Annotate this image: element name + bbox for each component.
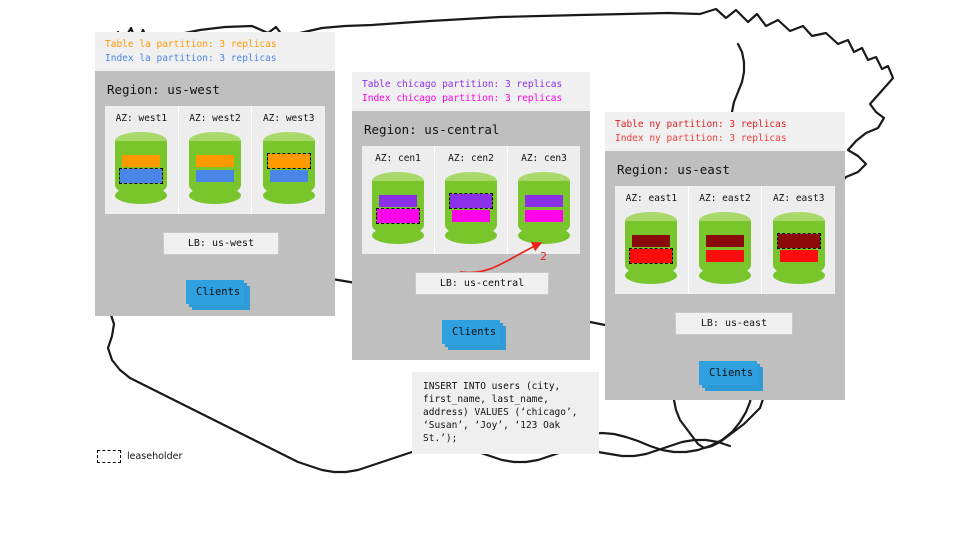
az-label-cen3: AZ: cen3 bbox=[508, 153, 580, 164]
table-partition-label-us-west: Table la partition: 3 replicas bbox=[105, 38, 325, 52]
region-title-us-west: Region: us-west bbox=[107, 82, 325, 97]
az-label-cen2: AZ: cen2 bbox=[435, 153, 507, 164]
table-replica-bar-cen1 bbox=[379, 195, 417, 207]
az-strip-us-west: AZ: west1 AZ: west2 bbox=[105, 106, 325, 214]
clients-button-us-central[interactable]: Clients bbox=[442, 320, 500, 344]
node-cylinder-east3[interactable] bbox=[773, 212, 825, 282]
clients-button-us-west[interactable]: Clients bbox=[186, 280, 244, 304]
node-cylinder-cen1[interactable] bbox=[372, 172, 424, 242]
table-replica-bar-west2 bbox=[196, 155, 234, 167]
cylinder-bottom-cen2 bbox=[445, 227, 497, 244]
index-partition-label-us-central: Index chicago partition: 3 replicas bbox=[362, 92, 580, 106]
index-replica-bar-cen3 bbox=[525, 210, 563, 222]
az-cen3[interactable]: AZ: cen3 bbox=[508, 146, 580, 254]
table-replica-bar-west1 bbox=[122, 155, 160, 167]
region-panel-us-west: Table la partition: 3 replicas Index la … bbox=[95, 32, 335, 316]
cylinder-bottom-east3 bbox=[773, 267, 825, 284]
az-strip-us-central: AZ: cen1 AZ: cen2 bbox=[362, 146, 580, 254]
legend-leaseholder: leaseholder bbox=[97, 450, 182, 463]
az-label-east2: AZ: east2 bbox=[689, 193, 762, 204]
clients-button-us-east[interactable]: Clients bbox=[699, 361, 757, 385]
table-partition-label-us-central: Table chicago partition: 3 replicas bbox=[362, 78, 580, 92]
region-header-us-central: Table chicago partition: 3 replicas Inde… bbox=[352, 72, 590, 111]
table-partition-label-us-east: Table ny partition: 3 replicas bbox=[615, 118, 835, 132]
table-replica-bar-west3-leaseholder bbox=[268, 154, 310, 168]
az-label-west3: AZ: west3 bbox=[252, 113, 325, 124]
node-cylinder-east1[interactable] bbox=[625, 212, 677, 282]
cylinder-bottom-west3 bbox=[263, 187, 315, 204]
az-label-cen1: AZ: cen1 bbox=[362, 153, 434, 164]
az-strip-us-east: AZ: east1 AZ: east2 bbox=[615, 186, 835, 294]
cylinder-bottom-west1 bbox=[115, 187, 167, 204]
index-replica-bar-west1-leaseholder bbox=[120, 169, 162, 183]
load-balancer-us-central[interactable]: LB: us-central bbox=[415, 272, 549, 295]
table-replica-bar-east2 bbox=[706, 235, 744, 247]
az-west3[interactable]: AZ: west3 bbox=[252, 106, 325, 214]
index-replica-bar-east3 bbox=[780, 250, 818, 262]
cylinder-bottom-east2 bbox=[699, 267, 751, 284]
index-replica-bar-east2 bbox=[706, 250, 744, 262]
region-header-us-west: Table la partition: 3 replicas Index la … bbox=[95, 32, 335, 71]
az-west2[interactable]: AZ: west2 bbox=[179, 106, 253, 214]
table-replica-bar-cen3 bbox=[525, 195, 563, 207]
node-cylinder-west1[interactable] bbox=[115, 132, 167, 202]
legend-label: leaseholder bbox=[127, 451, 182, 462]
clients-us-east[interactable]: Clients bbox=[699, 361, 757, 385]
node-cylinder-east2[interactable] bbox=[699, 212, 751, 282]
index-replica-bar-west3 bbox=[270, 170, 308, 182]
az-east2[interactable]: AZ: east2 bbox=[689, 186, 763, 294]
az-cen1[interactable]: AZ: cen1 bbox=[362, 146, 435, 254]
clients-us-west[interactable]: Clients bbox=[186, 280, 244, 304]
az-label-east1: AZ: east1 bbox=[615, 193, 688, 204]
node-cylinder-west3[interactable] bbox=[263, 132, 315, 202]
clients-us-central[interactable]: Clients bbox=[442, 320, 500, 344]
az-west1[interactable]: AZ: west1 bbox=[105, 106, 179, 214]
az-east3[interactable]: AZ: east3 bbox=[762, 186, 835, 294]
region-panel-us-east: Table ny partition: 3 replicas Index ny … bbox=[605, 112, 845, 400]
index-replica-bar-west2 bbox=[196, 170, 234, 182]
index-replica-bar-cen1-leaseholder bbox=[377, 209, 419, 223]
diagram-canvas: Table la partition: 3 replicas Index la … bbox=[0, 0, 960, 540]
load-balancer-us-east[interactable]: LB: us-east bbox=[675, 312, 793, 335]
index-partition-label-us-west: Index la partition: 3 replicas bbox=[105, 52, 325, 66]
index-replica-bar-cen2 bbox=[452, 210, 490, 222]
az-east1[interactable]: AZ: east1 bbox=[615, 186, 689, 294]
node-cylinder-cen2[interactable] bbox=[445, 172, 497, 242]
region-title-us-east: Region: us-east bbox=[617, 162, 835, 177]
index-partition-label-us-east: Index ny partition: 3 replicas bbox=[615, 132, 835, 146]
annotation-number-2: 2 bbox=[540, 250, 547, 263]
load-balancer-us-west[interactable]: LB: us-west bbox=[163, 232, 279, 255]
az-label-west2: AZ: west2 bbox=[179, 113, 252, 124]
cylinder-bottom-cen1 bbox=[372, 227, 424, 244]
az-label-west1: AZ: west1 bbox=[105, 113, 178, 124]
leaseholder-swatch-icon bbox=[97, 450, 121, 463]
region-header-us-east: Table ny partition: 3 replicas Index ny … bbox=[605, 112, 845, 151]
node-cylinder-cen3[interactable] bbox=[518, 172, 570, 242]
cylinder-bottom-cen3 bbox=[518, 227, 570, 244]
table-replica-bar-east3-leaseholder bbox=[778, 234, 820, 248]
cylinder-bottom-east1 bbox=[625, 267, 677, 284]
index-replica-bar-east1-leaseholder bbox=[630, 249, 672, 263]
az-cen2[interactable]: AZ: cen2 bbox=[435, 146, 508, 254]
node-cylinder-west2[interactable] bbox=[189, 132, 241, 202]
az-label-east3: AZ: east3 bbox=[762, 193, 835, 204]
sql-insert-callout: INSERT INTO users (city, first_name, las… bbox=[412, 372, 599, 454]
table-replica-bar-cen2-leaseholder bbox=[450, 194, 492, 208]
region-title-us-central: Region: us-central bbox=[364, 122, 580, 137]
region-panel-us-central: Table chicago partition: 3 replicas Inde… bbox=[352, 72, 590, 360]
table-replica-bar-east1 bbox=[632, 235, 670, 247]
cylinder-bottom-west2 bbox=[189, 187, 241, 204]
